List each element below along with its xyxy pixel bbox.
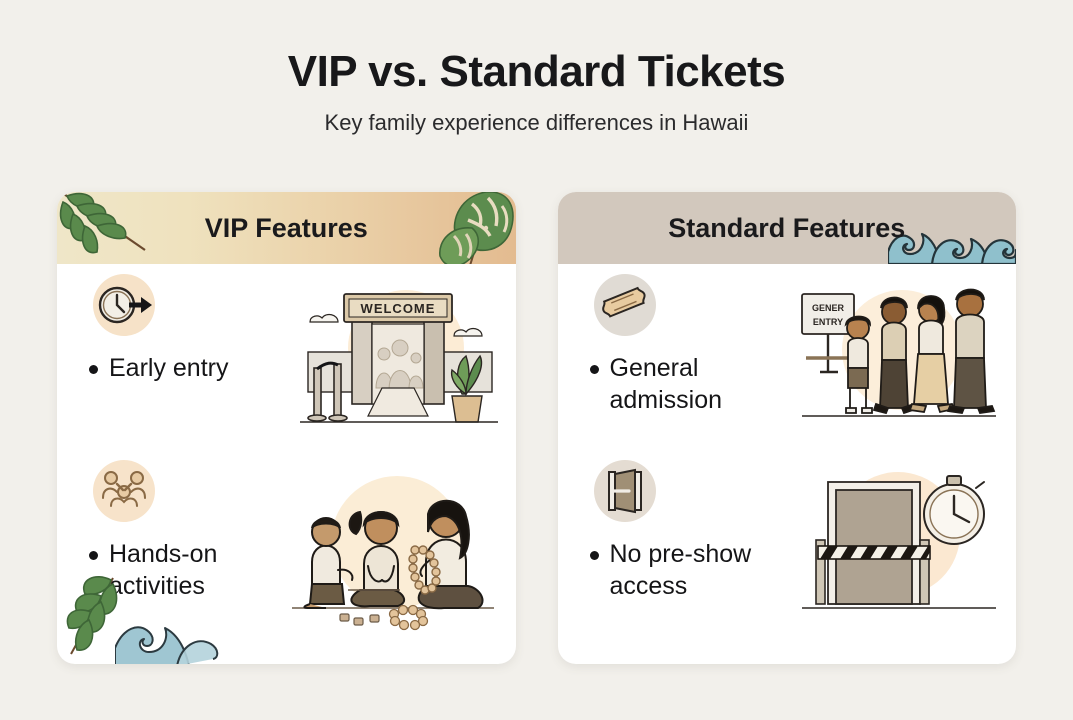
bullet-label: Early entry — [109, 352, 228, 384]
card-standard: Standard Features General admiss — [558, 192, 1017, 664]
bullet-dot — [590, 551, 599, 560]
card-standard-title: Standard Features — [668, 213, 905, 244]
bullet-standard-no-preshow: No pre-show access — [590, 538, 805, 602]
welcome-sign-text: WELCOME — [360, 301, 435, 316]
page-title: VIP vs. Standard Tickets — [0, 48, 1073, 96]
page-subtitle: Key family experience differences in Haw… — [0, 110, 1073, 136]
feature-vip-early-entry: Early entry — [57, 268, 516, 458]
lei-making-family-illustration — [282, 462, 504, 632]
queue-sign-line1: GENER — [812, 303, 845, 313]
bullet-label: Hands-on activities — [109, 538, 304, 602]
card-vip-title: VIP Features — [205, 213, 368, 244]
card-vip-header: VIP Features — [57, 192, 516, 264]
wave-icon — [888, 220, 1016, 264]
bullet-label: No pre-show access — [610, 538, 805, 602]
feature-vip-hands-on: Hands-on activities — [57, 454, 516, 644]
barrier-stopwatch-illustration — [794, 462, 1004, 632]
welcome-gate-illustration: WELCOME — [294, 276, 504, 446]
palm-frond-leaf-icon — [57, 192, 173, 264]
family-hands-icon — [93, 460, 155, 522]
card-vip: VIP Features — [57, 192, 516, 664]
feature-standard-no-preshow: No pre-show access — [558, 454, 1017, 644]
feature-standard-general-admission: General admission GENER ENTRY — [558, 268, 1017, 458]
bullet-dot — [89, 551, 98, 560]
queue-sign-line2: ENTRY — [813, 317, 843, 327]
queue-line-illustration: GENER ENTRY — [794, 276, 1004, 446]
bullet-vip-early-entry: Early entry — [89, 352, 304, 384]
bullet-dot — [590, 365, 599, 374]
ticket-icon — [594, 274, 656, 336]
clock-arrow-icon — [93, 274, 155, 336]
comparison-cards-container: VIP Features — [57, 192, 1016, 664]
card-vip-body: Early entry — [57, 264, 516, 664]
bullet-vip-hands-on: Hands-on activities — [89, 538, 304, 602]
bullet-dot — [89, 365, 98, 374]
card-standard-body: General admission GENER ENTRY — [558, 264, 1017, 664]
monstera-leaf-icon — [410, 192, 516, 264]
bullet-standard-general-admission: General admission — [590, 352, 805, 416]
bullet-label: General admission — [610, 352, 805, 416]
card-standard-header: Standard Features — [558, 192, 1017, 264]
door-icon — [594, 460, 656, 522]
page-header: VIP vs. Standard Tickets Key family expe… — [0, 0, 1073, 136]
